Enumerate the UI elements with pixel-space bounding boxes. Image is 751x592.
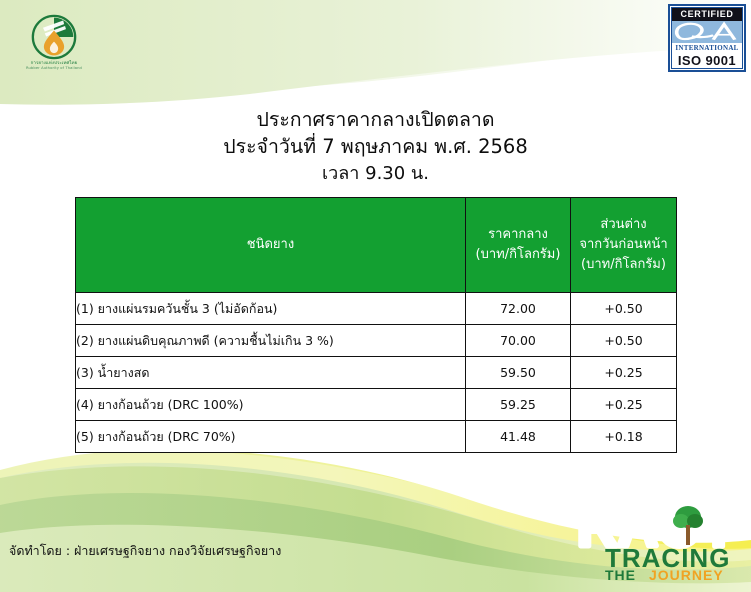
table-row: (2) ยางแผ่นดิบคุณภาพดี (ความชื้นไม่เกิน …: [76, 325, 677, 357]
price-table-container: ชนิดยาง ราคากลาง (บาท/กิโลกรัม) ส่วนต่าง…: [75, 197, 676, 453]
iso-standard-label: ISO 9001: [672, 53, 742, 68]
table-row: (3) น้ำยางสด 59.50 +0.25: [76, 357, 677, 389]
title-line-2: ประจำวันที่ 7 พฤษภาคม พ.ศ. 2568: [0, 133, 751, 160]
iso-international-label: INTERNATIONAL: [672, 43, 742, 53]
row-diff: +0.50: [571, 325, 677, 357]
row-diff: +0.25: [571, 389, 677, 421]
footer-credit: จัดทำโดย : ฝ่ายเศรษฐกิจยาง กองวิจัยเศรษฐ…: [9, 541, 281, 561]
seal-label-en: Rubber Authority of Thailand: [20, 66, 88, 71]
row-price: 41.48: [466, 421, 571, 453]
row-type: (1) ยางแผ่นรมควันชั้น 3 (ไม่อัดก้อน): [76, 293, 466, 325]
row-diff: +0.25: [571, 357, 677, 389]
row-price: 59.50: [466, 357, 571, 389]
table-row: (1) ยางแผ่นรมควันชั้น 3 (ไม่อัดก้อน) 72.…: [76, 293, 677, 325]
raot-tracing-logo: RAOT RAOT TRACING THE JOURNEY: [575, 490, 743, 582]
column-header-change-line-1: ส่วนต่าง: [571, 215, 676, 235]
column-header-type: ชนิดยาง: [76, 198, 466, 293]
row-type: (3) น้ำยางสด: [76, 357, 466, 389]
row-price: 59.25: [466, 389, 571, 421]
iso-certified-label: CERTIFIED: [672, 8, 742, 21]
price-table: ชนิดยาง ราคากลาง (บาท/กิโลกรัม) ส่วนต่าง…: [75, 197, 677, 453]
raot-tagline-journey: JOURNEY: [649, 567, 724, 582]
iso-9001-badge: CERTIFIED INTERNATIONAL ISO 9001: [668, 4, 746, 72]
row-type: (4) ยางก้อนถ้วย (DRC 100%): [76, 389, 466, 421]
column-header-change-line-2: จากวันก่อนหน้า: [571, 235, 676, 255]
price-table-body: (1) ยางแผ่นรมควันชั้น 3 (ไม่อัดก้อน) 72.…: [76, 293, 677, 453]
table-header-row: ชนิดยาง ราคากลาง (บาท/กิโลกรัม) ส่วนต่าง…: [76, 198, 677, 293]
column-header-type-line-1: ชนิดยาง: [76, 235, 465, 255]
table-row: (5) ยางก้อนถ้วย (DRC 70%) 41.48 +0.18: [76, 421, 677, 453]
title-line-3: เวลา 9.30 น.: [0, 160, 751, 187]
column-header-change-line-3: (บาท/กิโลกรัม): [571, 255, 676, 275]
title-line-1: ประกาศราคากลางเปิดตลาด: [0, 106, 751, 133]
row-price: 70.00: [466, 325, 571, 357]
raot-seal: การยางแห่งประเทศไทย Rubber Authority of …: [20, 14, 88, 76]
column-header-mid-price: ราคากลาง (บาท/กิโลกรัม): [466, 198, 571, 293]
row-type: (5) ยางก้อนถ้วย (DRC 70%): [76, 421, 466, 453]
row-type: (2) ยางแผ่นดิบคุณภาพดี (ความชื้นไม่เกิน …: [76, 325, 466, 357]
announcement-page: การยางแห่งประเทศไทย Rubber Authority of …: [0, 0, 751, 592]
qa-mark-icon: [672, 21, 742, 43]
page-header: การยางแห่งประเทศไทย Rubber Authority of …: [0, 0, 751, 105]
row-diff: +0.50: [571, 293, 677, 325]
column-header-mid-price-line-1: ราคากลาง: [466, 225, 570, 245]
table-row: (4) ยางก้อนถ้วย (DRC 100%) 59.25 +0.25: [76, 389, 677, 421]
raot-seal-icon: [29, 14, 79, 60]
column-header-mid-price-line-2: (บาท/กิโลกรัม): [466, 245, 570, 265]
row-diff: +0.18: [571, 421, 677, 453]
raot-tagline-the: THE: [605, 567, 636, 582]
column-header-change: ส่วนต่าง จากวันก่อนหน้า (บาท/กิโลกรัม): [571, 198, 677, 293]
announcement-title: ประกาศราคากลางเปิดตลาด ประจำวันที่ 7 พฤษ…: [0, 106, 751, 187]
row-price: 72.00: [466, 293, 571, 325]
